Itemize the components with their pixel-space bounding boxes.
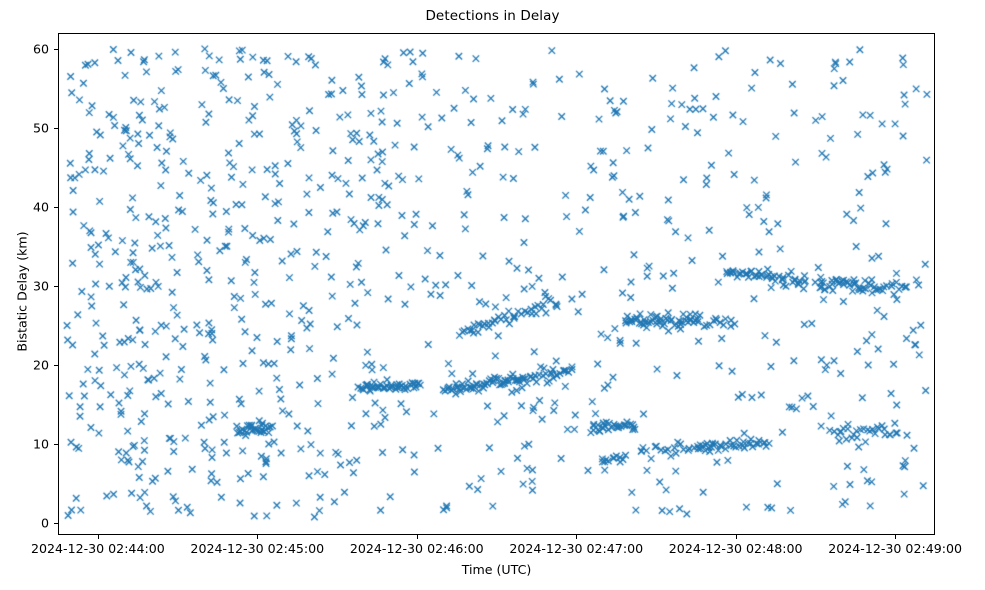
x-axis-label: Time (UTC) — [58, 562, 935, 577]
y-tick-mark — [54, 128, 58, 129]
x-tick-mark — [417, 535, 418, 539]
plot-axes — [58, 33, 935, 535]
y-tick-mark — [54, 207, 58, 208]
y-tick-mark — [54, 49, 58, 50]
y-axis-label: Bistatic Delay (km) — [15, 152, 30, 432]
x-tick-label: 2024-12-30 02:44:00 — [31, 541, 165, 556]
x-tick-label: 2024-12-30 02:45:00 — [190, 541, 324, 556]
x-tick-mark — [257, 535, 258, 539]
x-tick-label: 2024-12-30 02:48:00 — [669, 541, 803, 556]
x-tick-mark — [576, 535, 577, 539]
x-tick-label: 2024-12-30 02:47:00 — [509, 541, 643, 556]
y-tick-label: 50 — [0, 120, 49, 135]
x-tick-mark — [736, 535, 737, 539]
y-tick-mark — [54, 286, 58, 287]
scatter-plot-canvas — [59, 34, 935, 535]
y-tick-label: 10 — [0, 437, 49, 452]
x-tick-mark — [895, 535, 896, 539]
y-tick-mark — [54, 365, 58, 366]
page-title: Detections in Delay — [0, 8, 985, 24]
x-tick-label: 2024-12-30 02:49:00 — [828, 541, 962, 556]
matplotlib-figure: Detections in Delay 0102030405060 2024-1… — [0, 0, 985, 590]
y-tick-label: 0 — [0, 516, 49, 531]
y-tick-mark — [54, 444, 58, 445]
x-tick-mark — [98, 535, 99, 539]
x-tick-label: 2024-12-30 02:46:00 — [350, 541, 484, 556]
y-tick-mark — [54, 523, 58, 524]
y-tick-label: 60 — [0, 41, 49, 56]
